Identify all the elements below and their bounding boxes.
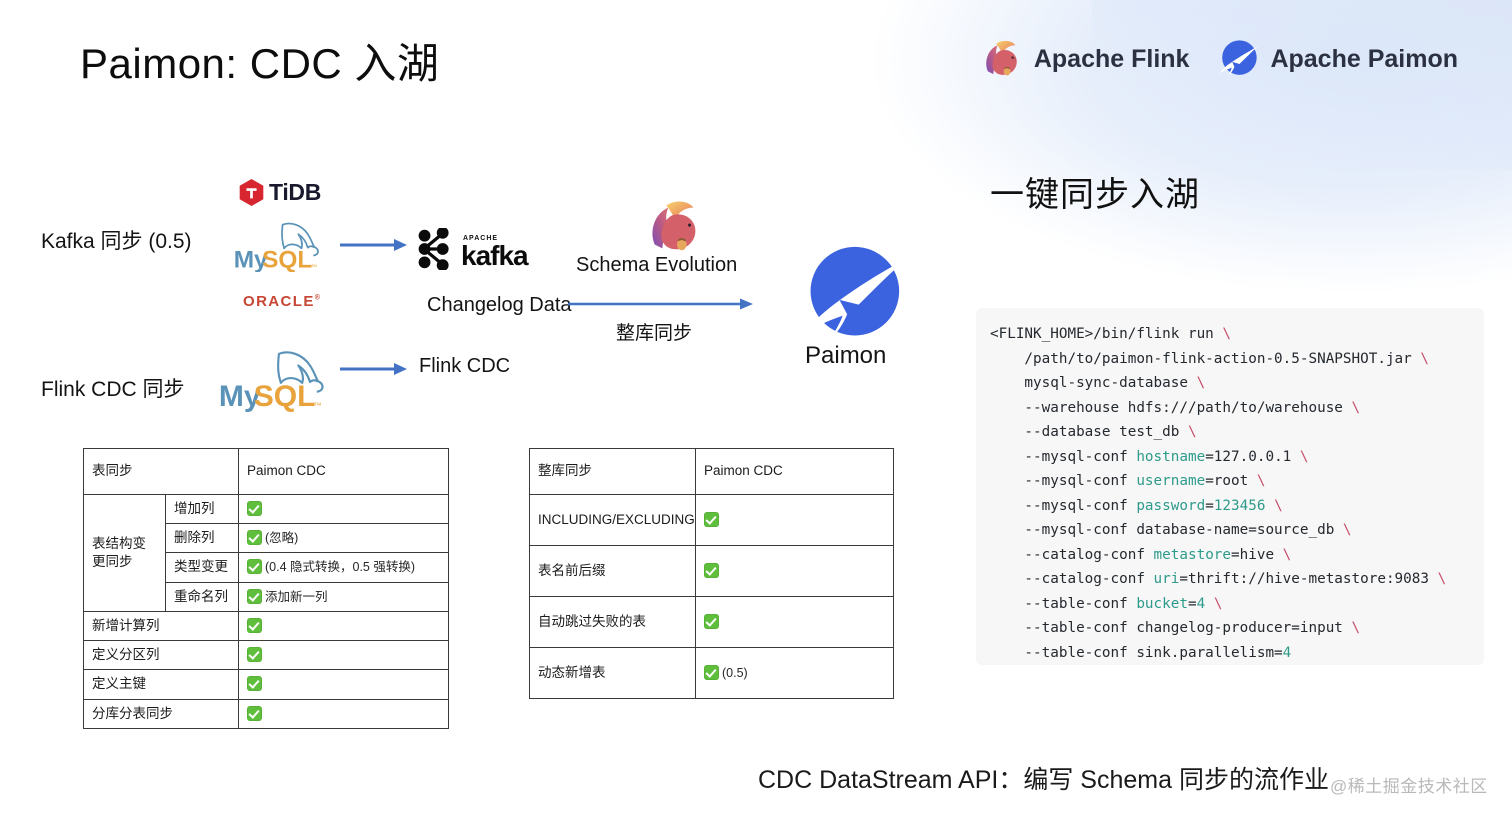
table-right-value-0 xyxy=(696,495,894,546)
check-icon xyxy=(247,501,262,516)
table-right-value-1 xyxy=(696,546,894,597)
table-row: INCLUDING/EXCLUDING xyxy=(530,495,894,546)
check-icon xyxy=(704,614,719,629)
check-icon xyxy=(704,563,719,578)
table-row: 新增计算列 xyxy=(84,611,449,640)
table-left-value-6 xyxy=(239,670,449,699)
paimon-circle-icon xyxy=(1215,36,1261,82)
check-icon xyxy=(247,618,262,633)
code-line: --mysql-conf database-name=source_db \ xyxy=(990,518,1468,543)
table-feature-comparison-right: 整库同步 Paimon CDC INCLUDING/EXCLUDING 表名前后… xyxy=(529,448,894,699)
tidb-wordmark: TiDB xyxy=(269,179,321,206)
table-right-header-feature: 整库同步 xyxy=(530,449,696,495)
brand-apache-flink: Apache Flink xyxy=(981,36,1190,82)
footer-caption: CDC DataStream API：编写 Schema 同步的流作业 xyxy=(758,760,1329,796)
diagram-label-whole-db-sync: 整库同步 xyxy=(616,318,692,345)
table-right-value-3: (0.5) xyxy=(696,648,894,699)
table-row: 表结构变更同步 增加列 xyxy=(84,495,449,524)
code-line: --warehouse hdfs:///path/to/warehouse \ xyxy=(990,396,1468,421)
table-left-sub-0: 增加列 xyxy=(166,495,239,524)
table-left-feature-6: 定义主键 xyxy=(84,670,239,699)
code-line: --mysql-conf password=123456 \ xyxy=(990,494,1468,519)
table-left-header-feature: 表同步 xyxy=(84,449,239,495)
table-left-group-label: 表结构变更同步 xyxy=(84,495,166,612)
code-line: --mysql-conf username=root \ xyxy=(990,469,1468,494)
table-left-sub-3: 重命名列 xyxy=(166,582,239,611)
code-line: /path/to/paimon-flink-action-0.5-SNAPSHO… xyxy=(990,347,1468,372)
diagram-label-changelog-data: Changelog Data xyxy=(427,294,572,317)
table-row: 动态新增表 (0.5) xyxy=(530,648,894,699)
svg-text:SQL: SQL xyxy=(254,380,316,412)
code-line: --table-conf bucket=4 \ xyxy=(990,592,1468,617)
check-icon xyxy=(247,589,262,604)
diagram-flink-squirrel-icon xyxy=(645,196,707,263)
svg-text:SQL: SQL xyxy=(262,246,312,272)
table-right-body: 整库同步 Paimon CDC INCLUDING/EXCLUDING 表名前后… xyxy=(530,449,894,699)
arrow-to-paimon xyxy=(568,297,754,316)
table-left-value-5 xyxy=(239,641,449,670)
table-left-note-3: 添加新一列 xyxy=(265,590,328,604)
background-gradient-secondary xyxy=(1092,0,1512,170)
brand-apache-paimon: Apache Paimon xyxy=(1215,36,1458,82)
table-feature-comparison-left: 表同步 Paimon CDC 表结构变更同步 增加列 删除列 (忽略) 类型变更… xyxy=(83,448,449,729)
svg-text:™: ™ xyxy=(311,264,317,271)
table-left-header-value: Paimon CDC xyxy=(239,449,449,495)
diagram-label-flink-cdc-sync: Flink CDC 同步 xyxy=(41,373,185,403)
check-icon xyxy=(247,706,262,721)
code-line: --mysql-conf hostname=127.0.0.1 \ xyxy=(990,445,1468,470)
source-logo-mysql-flinkcdc-path: My SQL ™ xyxy=(218,348,336,412)
brand-paimon-label: Apache Paimon xyxy=(1270,45,1458,74)
table-left-sub-1: 删除列 xyxy=(166,524,239,553)
tidb-icon xyxy=(238,178,265,207)
table-row: 分库分表同步 xyxy=(84,699,449,728)
kafka-word-label: kafka xyxy=(461,242,528,270)
check-icon xyxy=(247,676,262,691)
table-right-feature-3: 动态新增表 xyxy=(530,648,696,699)
oracle-tm-mark: ® xyxy=(315,295,322,302)
mysql-dolphin-icon: My SQL ™ xyxy=(233,220,329,272)
table-row-header: 整库同步 Paimon CDC xyxy=(530,449,894,495)
code-line: --catalog-conf uri=thrift://hive-metasto… xyxy=(990,567,1468,592)
table-right-header-value: Paimon CDC xyxy=(696,449,894,495)
svg-text:™: ™ xyxy=(314,401,322,410)
table-right-note-3: (0.5) xyxy=(722,666,748,680)
table-right-value-2 xyxy=(696,597,894,648)
oracle-wordmark-icon: ORACLE xyxy=(243,293,315,310)
table-left-note-2: (0.4 隐式转换，0.5 强转换) xyxy=(265,560,415,574)
check-icon xyxy=(704,665,719,680)
check-icon xyxy=(247,559,262,574)
table-row-header: 表同步 Paimon CDC xyxy=(84,449,449,495)
table-left-note-1: (忽略) xyxy=(265,531,298,545)
table-left-value-1: (忽略) xyxy=(239,524,449,553)
diagram-paimon-circle-icon xyxy=(793,243,909,352)
kafka-wordmark: APACHE kafka xyxy=(461,235,528,270)
mysql-dolphin-icon: My SQL ™ xyxy=(218,348,336,412)
table-left-value-3: 添加新一列 xyxy=(239,582,449,611)
code-line: --database test_db \ xyxy=(990,420,1468,445)
table-left-value-0 xyxy=(239,495,449,524)
flink-squirrel-icon xyxy=(981,36,1025,82)
slide-root: Paimon: CDC 入湖 xyxy=(0,0,1512,815)
table-row: 自动跳过失败的表 xyxy=(530,597,894,648)
brand-flink-label: Apache Flink xyxy=(1034,45,1190,74)
check-icon xyxy=(247,530,262,545)
code-block: <FLINK_HOME>/bin/flink run \ /path/to/pa… xyxy=(976,308,1484,665)
table-left-feature-5: 定义分区列 xyxy=(84,641,239,670)
table-right-feature-0: INCLUDING/EXCLUDING xyxy=(530,495,696,546)
brand-bar: Apache Flink Apache Paimon xyxy=(981,36,1458,82)
code-lines: <FLINK_HOME>/bin/flink run \ /path/to/pa… xyxy=(990,322,1468,665)
table-left-body: 表同步 Paimon CDC 表结构变更同步 增加列 删除列 (忽略) 类型变更… xyxy=(84,449,449,729)
table-left-feature-7: 分库分表同步 xyxy=(84,699,239,728)
arrow-mysql-to-flinkcdc xyxy=(340,362,408,381)
kafka-logo: APACHE kafka xyxy=(414,228,528,270)
table-right-feature-1: 表名前后缀 xyxy=(530,546,696,597)
table-right-feature-2: 自动跳过失败的表 xyxy=(530,597,696,648)
table-left-value-4 xyxy=(239,611,449,640)
code-line: <FLINK_HOME>/bin/flink run \ xyxy=(990,322,1468,347)
code-line: mysql-sync-database \ xyxy=(990,371,1468,396)
code-line: --table-conf sink.parallelism=4 xyxy=(990,641,1468,666)
arrow-mysql-to-kafka xyxy=(340,238,408,257)
watermark: @稀土掘金技术社区 xyxy=(1330,772,1488,797)
code-line: --table-conf changelog-producer=input \ xyxy=(990,616,1468,641)
check-icon xyxy=(247,647,262,662)
diagram-label-flink-cdc-node: Flink CDC xyxy=(419,355,510,378)
source-logo-tidb: TiDB xyxy=(238,178,321,207)
diagram-label-kafka-sync: Kafka 同步 (0.5) xyxy=(41,225,192,255)
table-row: 表名前后缀 xyxy=(530,546,894,597)
right-section-heading: 一键同步入湖 xyxy=(990,167,1200,216)
source-logo-mysql-kafka-path: My SQL ™ xyxy=(233,220,329,272)
code-line: --catalog-conf metastore=hive \ xyxy=(990,543,1468,568)
table-left-sub-2: 类型变更 xyxy=(166,553,239,582)
check-icon xyxy=(704,512,719,527)
page-title: Paimon: CDC 入湖 xyxy=(80,30,439,91)
table-left-feature-4: 新增计算列 xyxy=(84,611,239,640)
source-logo-oracle: ORACLE® xyxy=(243,293,321,311)
table-row: 定义分区列 xyxy=(84,641,449,670)
table-left-value-2: (0.4 隐式转换，0.5 强转换) xyxy=(239,553,449,582)
table-row: 定义主键 xyxy=(84,670,449,699)
table-left-value-7 xyxy=(239,699,449,728)
kafka-dots-icon xyxy=(414,228,458,270)
